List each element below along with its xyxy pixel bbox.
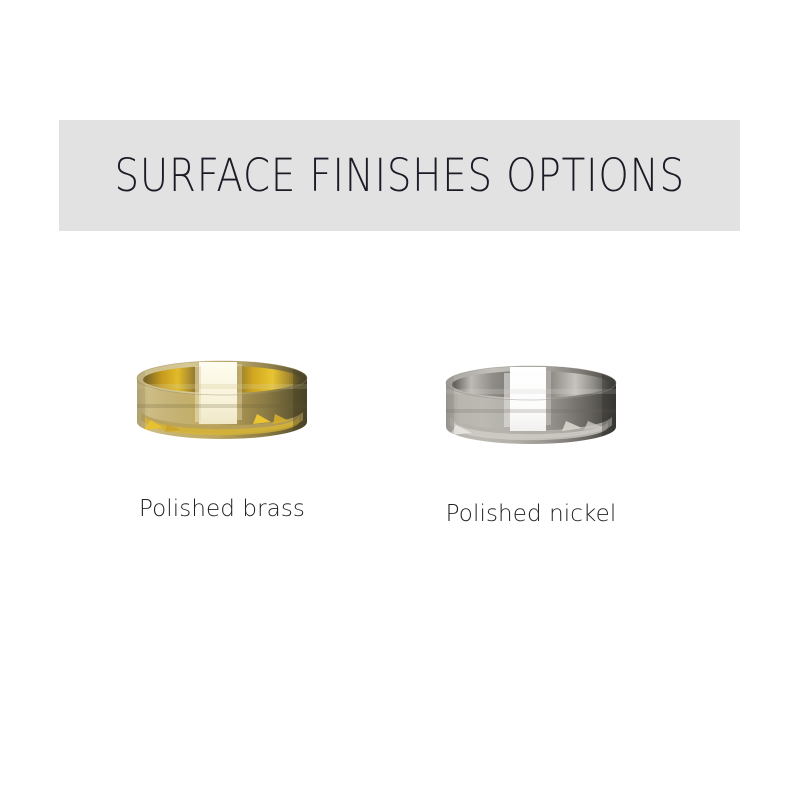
nickel-ring-icon[interactable] [416, 365, 646, 495]
finish-label-polished-brass: Polished brass [107, 498, 337, 521]
page-title: SURFACE FINISHES OPTIONS [114, 153, 685, 198]
finish-label-polished-nickel: Polished nickel [416, 503, 646, 526]
brass-ring-icon[interactable] [107, 360, 337, 490]
finish-option-polished-nickel[interactable]: Polished nickel [416, 365, 646, 545]
surface-finishes-page: SURFACE FINISHES OPTIONS [0, 0, 800, 800]
header-band: SURFACE FINISHES OPTIONS [59, 120, 740, 231]
finish-option-polished-brass[interactable]: Polished brass [107, 360, 337, 540]
